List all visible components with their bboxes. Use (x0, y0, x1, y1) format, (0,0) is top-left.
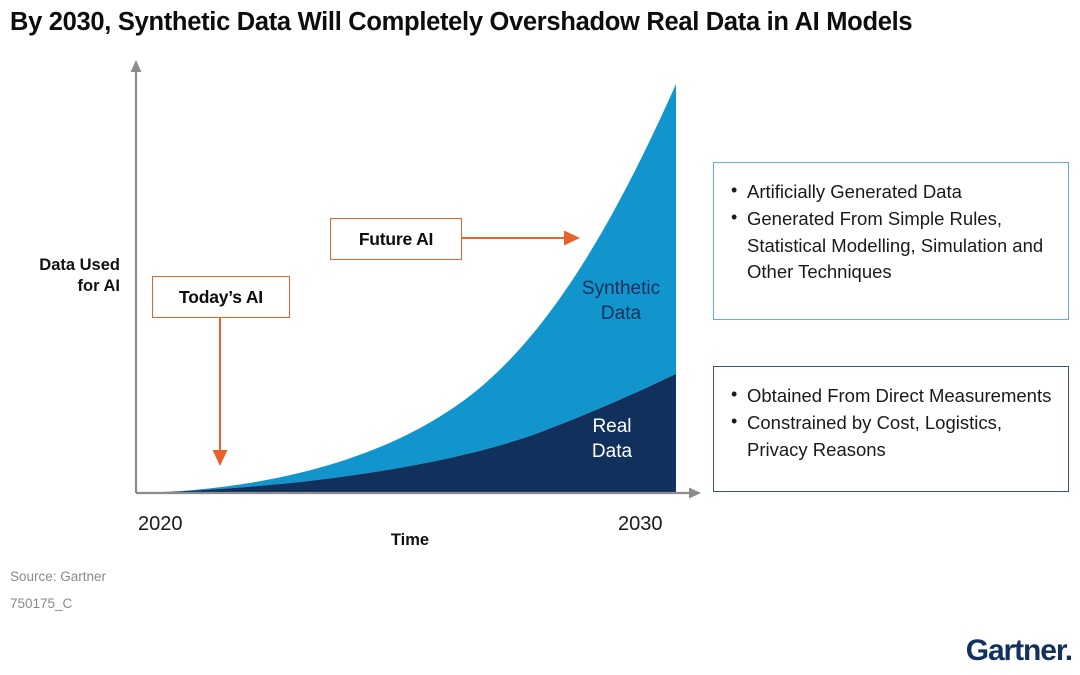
annotation-todays-ai: Today’s AI (152, 276, 290, 318)
series-label-real: Real Data (560, 414, 664, 464)
y-axis-label-line2: for AI (8, 276, 120, 297)
area-chart-svg (0, 0, 1080, 675)
gartner-logo: Gartner. (966, 634, 1072, 668)
list-item: Generated From Simple Rules, Statistical… (730, 206, 1054, 285)
chart-canvas (0, 0, 1080, 675)
series-label-synthetic-line2: Data (556, 301, 686, 326)
page-title: By 2030, Synthetic Data Will Completely … (10, 8, 1070, 37)
source-note: Source: Gartner (10, 569, 106, 584)
future-annotation-arrowhead (564, 231, 580, 246)
gartner-logo-text: Gartner (966, 634, 1065, 667)
callout-synthetic-list: Artificially Generated Data Generated Fr… (730, 179, 1054, 285)
list-item: Constrained by Cost, Logistics, Privacy … (730, 410, 1054, 463)
series-label-synthetic-line1: Synthetic (556, 276, 686, 301)
gartner-logo-dot: . (1065, 634, 1072, 667)
y-axis-label: Data Used for AI (8, 255, 120, 297)
y-axis-arrowhead (131, 60, 142, 72)
series-label-real-line2: Data (560, 439, 664, 464)
callout-synthetic-data: Artificially Generated Data Generated Fr… (713, 162, 1069, 320)
series-label-synthetic: Synthetic Data (556, 276, 686, 326)
callout-real-data: Obtained From Direct Measurements Constr… (713, 366, 1069, 492)
x-axis-tick-2030: 2030 (618, 513, 663, 536)
annotation-future-ai: Future AI (330, 218, 462, 260)
x-axis-tick-2020: 2020 (138, 513, 183, 536)
list-item: Obtained From Direct Measurements (730, 383, 1054, 409)
series-label-real-line1: Real (560, 414, 664, 439)
document-code: 750175_C (10, 596, 72, 611)
callout-real-list: Obtained From Direct Measurements Constr… (730, 383, 1054, 463)
today-annotation-arrowhead (213, 450, 228, 466)
y-axis-label-line1: Data Used (8, 255, 120, 276)
x-axis-title: Time (330, 531, 490, 550)
list-item: Artificially Generated Data (730, 179, 1054, 205)
x-axis-arrowhead (689, 488, 701, 499)
